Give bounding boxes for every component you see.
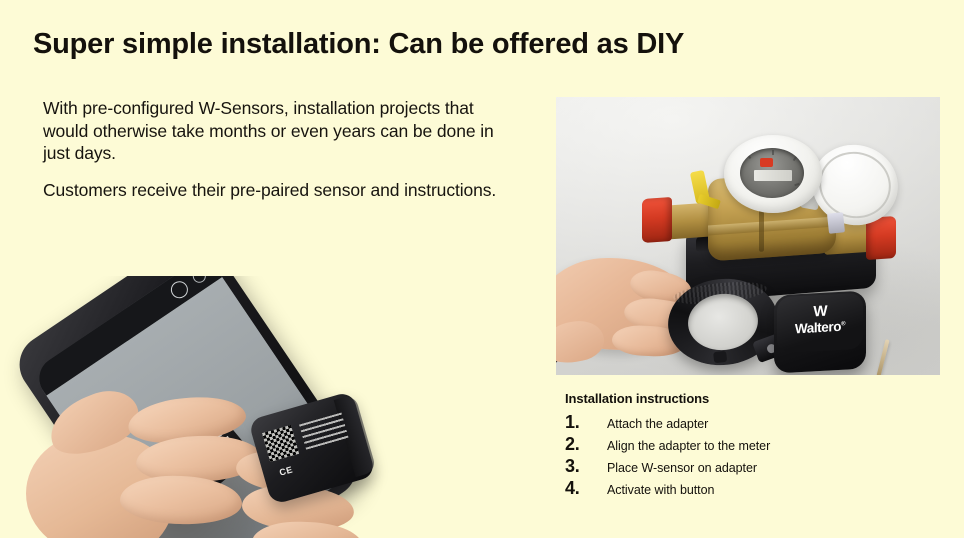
instruction-step: 4. Activate with button — [565, 478, 945, 500]
meter-cap-left — [642, 197, 672, 243]
sensor-label-area: CE — [261, 405, 365, 491]
instruction-step: 2. Align the adapter to the meter — [565, 434, 945, 456]
label-text-lines — [299, 413, 349, 452]
page-title: Super simple installation: Can be offere… — [33, 28, 684, 61]
adapter-foot — [713, 351, 727, 363]
instruction-step: 1. Attach the adapter — [565, 412, 945, 434]
body-copy: With pre-configured W-Sensors, installat… — [43, 97, 513, 201]
waltero-sensor-puck: W Waltero® — [774, 291, 866, 374]
camera-settings-icon — [190, 276, 208, 285]
meter-register-dial — [724, 135, 822, 213]
ce-mark-label: CE — [278, 464, 294, 477]
step-number: 2. — [565, 434, 607, 455]
step-number: 3. — [565, 456, 607, 477]
waltero-wordmark-text: Waltero — [795, 319, 841, 336]
body-paragraph-1: With pre-configured W-Sensors, installat… — [43, 97, 513, 165]
step-text: Activate with button — [607, 483, 714, 497]
step-text: Align the adapter to the meter — [607, 439, 770, 453]
meter-dial-tick — [747, 154, 752, 159]
meter-dial-tick — [794, 183, 799, 187]
installation-instructions: Installation instructions 1. Attach the … — [565, 391, 945, 500]
meter-dial-tick — [793, 156, 798, 161]
instruction-step: 3. Place W-sensor on adapter — [565, 456, 945, 478]
step-number: 1. — [565, 412, 607, 433]
meter-lid-tab — [827, 212, 845, 234]
meter-dial-indicator — [760, 158, 773, 167]
meter-dial-tick — [772, 150, 774, 155]
meter-dial-digits — [754, 170, 792, 181]
slide-root: Super simple installation: Can be offere… — [0, 0, 964, 538]
phone-scanning-photo: CE CE — [0, 276, 400, 538]
waltero-wordmark: Waltero® — [777, 318, 863, 338]
body-paragraph-2: Customers receive their pre-paired senso… — [43, 179, 513, 202]
waltero-trademark-symbol: ® — [841, 321, 845, 327]
meter-body-seam — [759, 206, 764, 252]
camera-shutter-icon — [168, 278, 192, 302]
step-text: Place W-sensor on adapter — [607, 461, 757, 475]
step-text: Attach the adapter — [607, 417, 708, 431]
meter-installation-photo: W Waltero® — [556, 97, 940, 375]
instructions-heading: Installation instructions — [565, 391, 945, 406]
meter-dial-face — [740, 148, 804, 198]
waltero-logo: W Waltero® — [777, 303, 863, 338]
step-number: 4. — [565, 478, 607, 499]
sensor-top-face: W Waltero® — [777, 293, 863, 354]
qr-code-icon — [262, 425, 299, 462]
meter-body-band — [708, 217, 836, 236]
meter-lid-rim — [812, 144, 898, 225]
